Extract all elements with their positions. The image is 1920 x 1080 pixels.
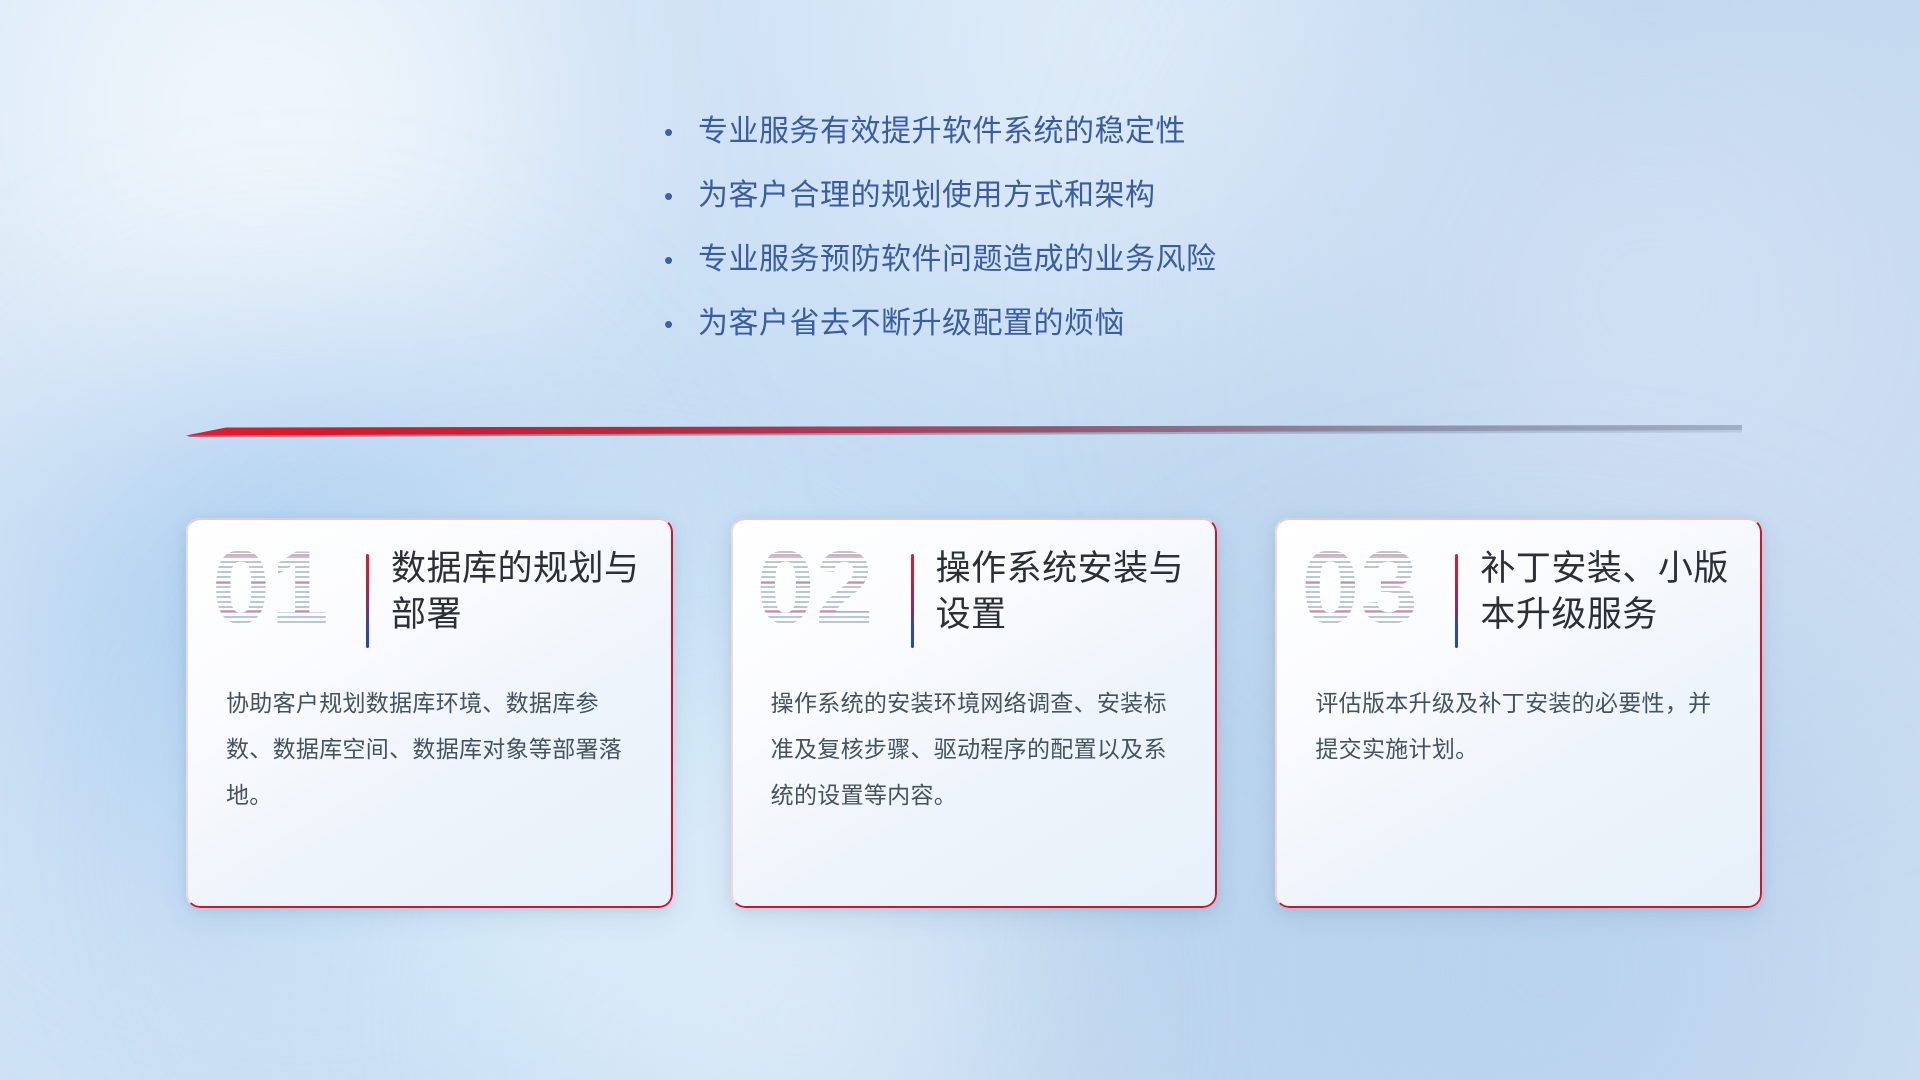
card-number-striped-accent: 01 (212, 536, 330, 640)
card-number: 03 03 (1301, 546, 1451, 662)
card-description: 协助客户规划数据库环境、数据库参数、数据库空间、数据库对象等部署落地。 (186, 658, 673, 818)
card-accent-bar (366, 554, 369, 648)
card-accent-bar (911, 554, 914, 648)
service-card[interactable]: 01 01 数据库的规划与部署 协助客户规划数据库环境、数据库参数、数据库空间、… (186, 518, 673, 908)
card-title: 补丁安装、小版本升级服务 (1480, 544, 1736, 638)
card-number: 02 02 (757, 546, 907, 662)
card-number-striped-accent: 03 (1301, 536, 1419, 640)
bullet-dot-icon: • (660, 183, 698, 209)
section-divider (186, 422, 1742, 440)
list-item: • 专业服务有效提升软件系统的稳定性 (660, 106, 1420, 170)
tapered-rule-icon (186, 422, 1742, 440)
list-item: • 为客户合理的规划使用方式和架构 (660, 170, 1420, 234)
card-header: 02 02 操作系统安装与设置 (731, 518, 1218, 658)
benefits-bullet-list: • 专业服务有效提升软件系统的稳定性 • 为客户合理的规划使用方式和架构 • 专… (660, 106, 1420, 362)
card-header: 03 03 补丁安装、小版本升级服务 (1275, 518, 1762, 658)
bullet-dot-icon: • (660, 119, 698, 145)
list-item: • 专业服务预防软件问题造成的业务风险 (660, 234, 1420, 298)
bullet-text: 专业服务有效提升软件系统的稳定性 (698, 106, 1186, 150)
bullet-text: 专业服务预防软件问题造成的业务风险 (698, 234, 1217, 278)
card-description: 操作系统的安装环境网络调查、安装标准及复核步骤、驱动程序的配置以及系统的设置等内… (731, 658, 1218, 818)
service-card[interactable]: 02 02 操作系统安装与设置 操作系统的安装环境网络调查、安装标准及复核步骤、… (731, 518, 1218, 908)
card-accent-bar (1455, 554, 1458, 648)
bullet-dot-icon: • (660, 311, 698, 337)
card-description: 评估版本升级及补丁安装的必要性，并提交实施计划。 (1275, 658, 1762, 772)
slide-canvas: • 专业服务有效提升软件系统的稳定性 • 为客户合理的规划使用方式和架构 • 专… (0, 0, 1920, 1080)
bullet-text: 为客户合理的规划使用方式和架构 (698, 170, 1156, 214)
bullet-text: 为客户省去不断升级配置的烦恼 (698, 298, 1125, 342)
service-cards: 01 01 数据库的规划与部署 协助客户规划数据库环境、数据库参数、数据库空间、… (186, 518, 1762, 908)
service-card[interactable]: 03 03 补丁安装、小版本升级服务 评估版本升级及补丁安装的必要性，并提交实施… (1275, 518, 1762, 908)
card-title: 数据库的规划与部署 (391, 544, 647, 638)
list-item: • 为客户省去不断升级配置的烦恼 (660, 298, 1420, 362)
card-header: 01 01 数据库的规划与部署 (186, 518, 673, 658)
card-number: 01 01 (212, 546, 362, 662)
card-title: 操作系统安装与设置 (936, 544, 1192, 638)
bullet-dot-icon: • (660, 247, 698, 273)
card-number-striped-accent: 02 (757, 536, 875, 640)
